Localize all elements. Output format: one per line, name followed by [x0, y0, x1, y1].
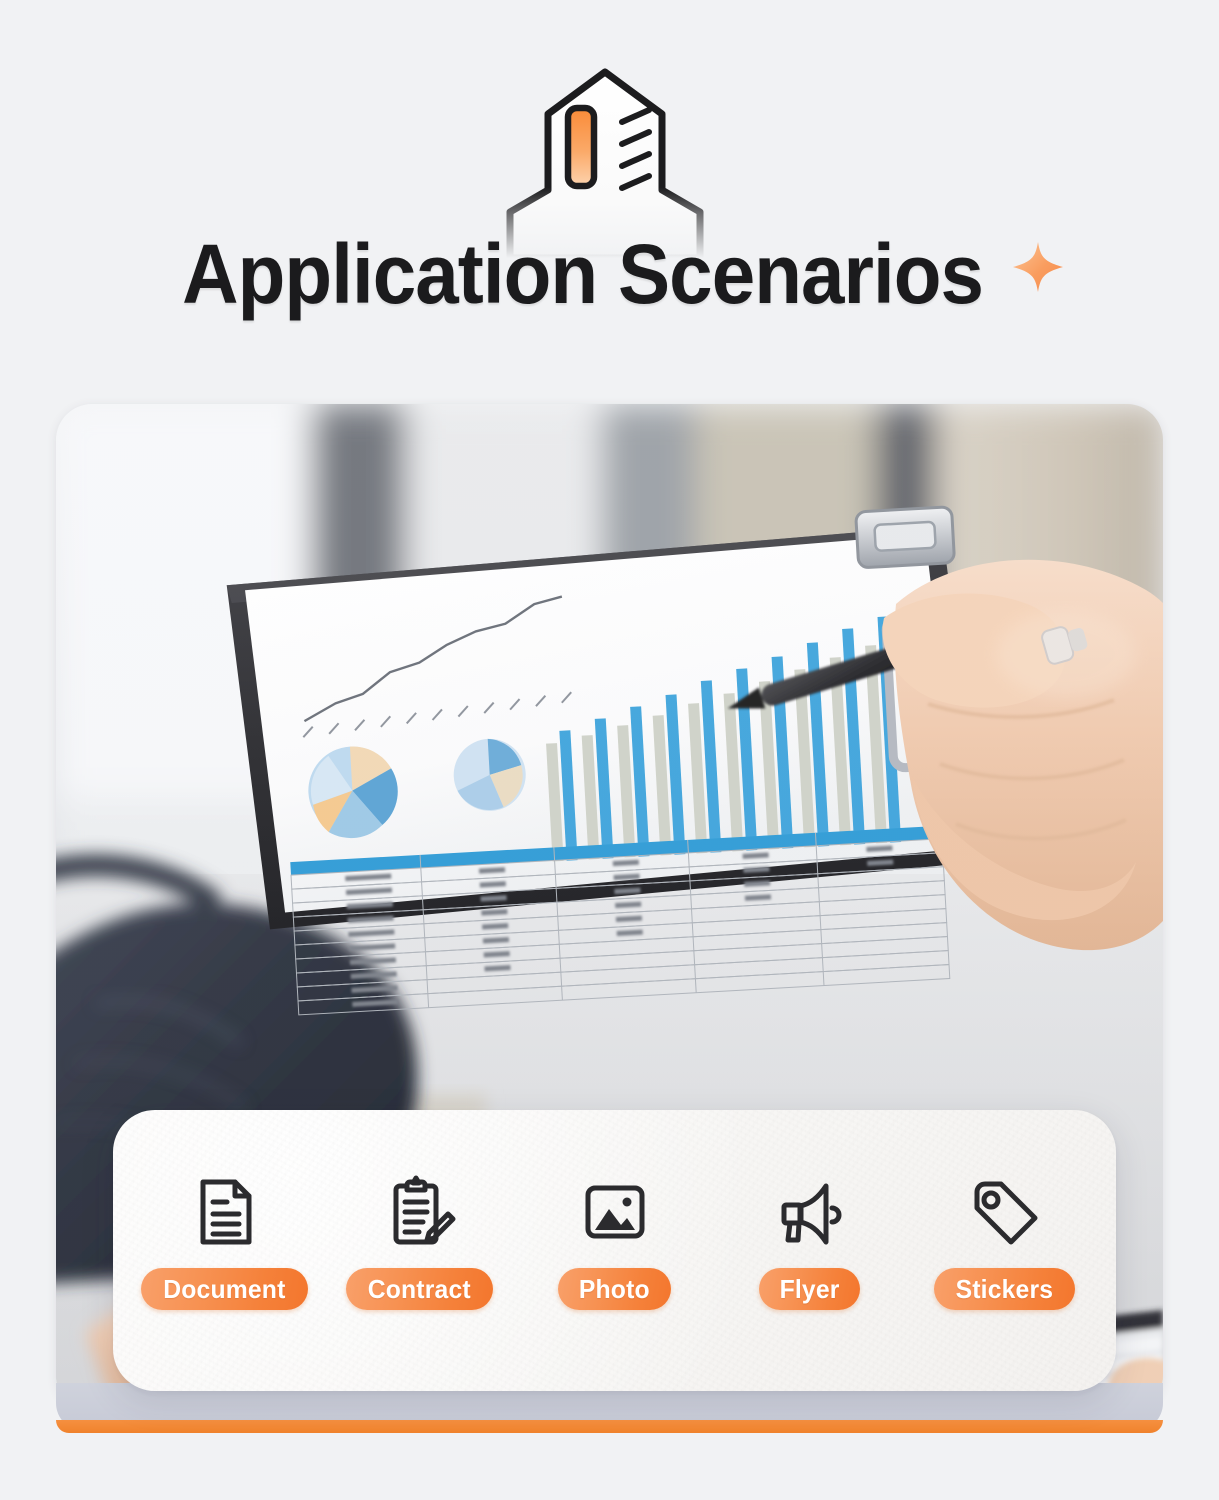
chip-label-document: Document: [163, 1274, 285, 1305]
chip-label-stickers: Stickers: [956, 1274, 1054, 1305]
scenario-item-stickers[interactable]: Stickers: [927, 1174, 1082, 1310]
scenario-chip-row: Document: [113, 1174, 1116, 1310]
document-icon: [187, 1174, 263, 1250]
title-row: Application Scenarios: [0, 232, 1219, 316]
application-scenarios-page: Application Scenarios: [0, 0, 1219, 1500]
header: Application Scenarios: [0, 0, 1219, 400]
scenario-feature-card: Document: [113, 1110, 1116, 1391]
image-icon: [577, 1174, 653, 1250]
orange-accent-rule: [56, 1420, 1163, 1433]
sparkle-icon: [1009, 238, 1067, 296]
chip-pill-stickers[interactable]: Stickers: [934, 1268, 1075, 1310]
megaphone-icon: [772, 1174, 848, 1250]
chip-pill-flyer[interactable]: Flyer: [759, 1268, 860, 1310]
chip-label-contract: Contract: [368, 1274, 471, 1305]
chip-pill-document[interactable]: Document: [141, 1268, 308, 1310]
scenario-item-contract[interactable]: Contract: [342, 1174, 497, 1310]
scenario-item-photo[interactable]: Photo: [537, 1174, 692, 1310]
scenario-item-document[interactable]: Document: [147, 1174, 302, 1310]
page-title: Application Scenarios: [182, 232, 983, 316]
price-tag-icon: [967, 1174, 1043, 1250]
clipboard-pencil-icon: [382, 1174, 458, 1250]
chip-pill-photo[interactable]: Photo: [558, 1268, 671, 1310]
scenario-item-flyer[interactable]: Flyer: [732, 1174, 887, 1310]
chip-label-photo: Photo: [579, 1274, 650, 1305]
chip-label-flyer: Flyer: [780, 1274, 840, 1305]
chip-pill-contract[interactable]: Contract: [346, 1268, 493, 1310]
